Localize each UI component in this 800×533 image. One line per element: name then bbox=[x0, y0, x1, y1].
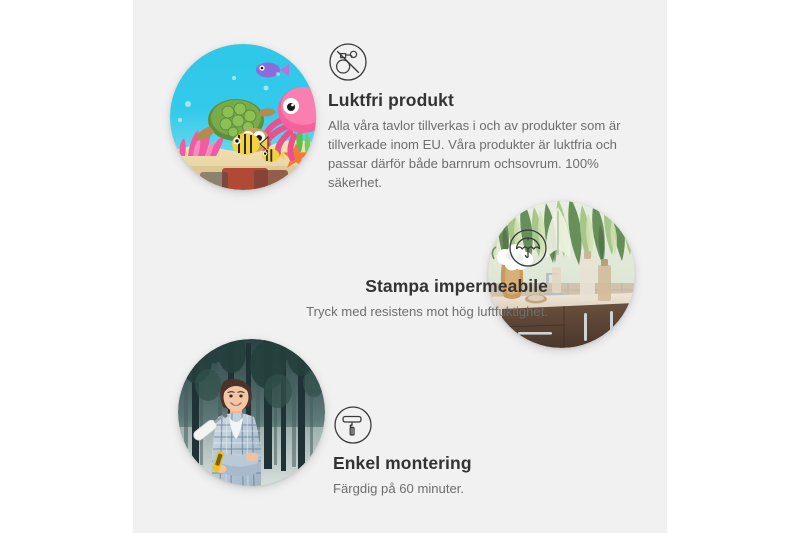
content-panel: Luktfri produkt Alla våra tavlor tillver… bbox=[133, 0, 667, 533]
feature-odour-free: Luktfri produkt Alla våra tavlor tillver… bbox=[328, 42, 628, 192]
feature-title: Enkel montering bbox=[333, 453, 633, 475]
photo-forest bbox=[178, 339, 325, 486]
feature-description: Alla våra tavlor tillverkas i och av pro… bbox=[328, 116, 628, 192]
photo-sealife bbox=[170, 44, 316, 190]
no-fragrance-icon bbox=[328, 42, 368, 82]
feature-title: Stampa impermeabile bbox=[218, 276, 548, 298]
infographic-page: Luktfri produkt Alla våra tavlor tillver… bbox=[0, 0, 800, 533]
umbrella-icon bbox=[508, 228, 548, 268]
feature-description: Färgdig på 60 minuter. bbox=[333, 479, 633, 498]
feature-easy-assembly: Enkel montering Färgdig på 60 minuter. bbox=[333, 405, 633, 498]
paint-roller-icon bbox=[333, 405, 373, 445]
feature-title: Luktfri produkt bbox=[328, 90, 628, 112]
feature-waterproof: Stampa impermeabile Tryck med resistens … bbox=[218, 228, 548, 321]
feature-description: Tryck med resistens mot hög luftfuktighe… bbox=[218, 302, 548, 321]
